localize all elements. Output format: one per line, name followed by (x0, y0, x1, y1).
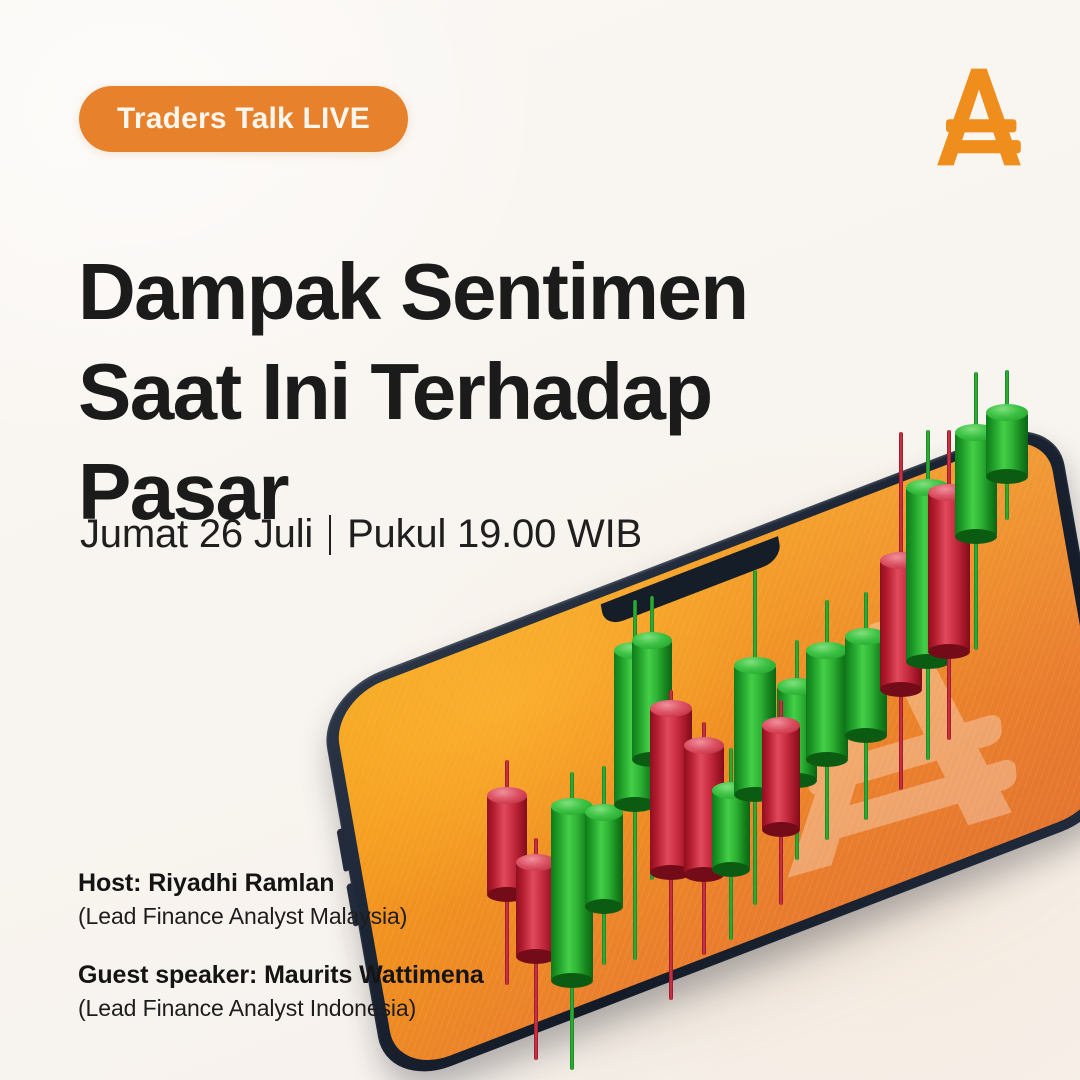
credit-host: Host: Riyadhi Ramlan (Lead Finance Analy… (78, 866, 484, 932)
promo-poster: Traders Talk LIVE Dampak Sentimen Saat I… (0, 0, 1080, 1080)
host-role: (Lead Finance Analyst Malaysia) (78, 900, 484, 932)
guest-role: (Lead Finance Analyst Indonesia) (78, 992, 484, 1024)
guest-name: Guest speaker: Maurits Wattimena (78, 958, 484, 992)
candle-top-cap (986, 404, 1028, 421)
credit-guest: Guest speaker: Maurits Wattimena (Lead F… (78, 958, 484, 1024)
speaker-credits: Host: Riyadhi Ramlan (Lead Finance Analy… (78, 866, 484, 1024)
host-name: Host: Riyadhi Ramlan (78, 866, 484, 900)
